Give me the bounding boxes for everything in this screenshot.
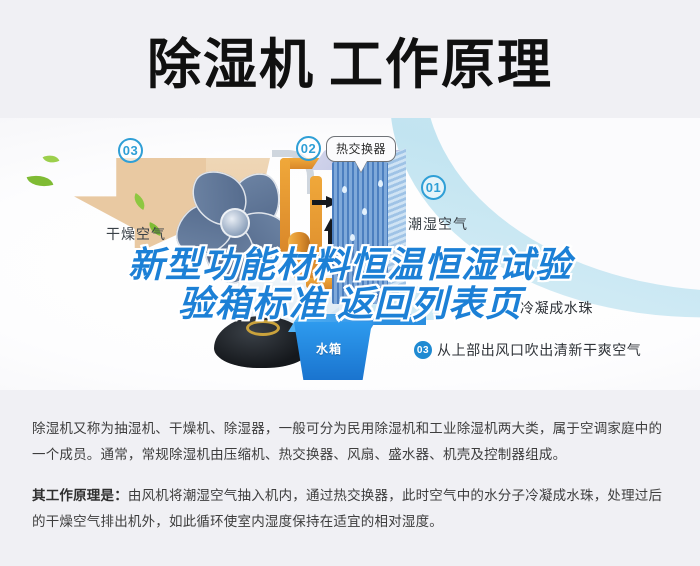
compressor-cylinder (288, 232, 310, 278)
paragraph-principle: 其工作原理是：由风机将潮湿空气抽入机内，通过热交换器，此时空气中的水分子冷凝成水… (32, 483, 672, 536)
paragraph-principle-lead: 其工作原理是： (32, 488, 128, 503)
water-droplet-icon (362, 208, 367, 215)
fan-hub (220, 208, 250, 238)
heat-exchanger (332, 162, 408, 312)
note-condensation: 冷凝成水珠 (520, 298, 593, 318)
heat-exchanger-fins (386, 148, 406, 298)
paragraph-definition: 除湿机又称为抽湿机、干燥机、除湿器，一般可分为民用除湿机和工业除湿机两大类，属于… (32, 416, 672, 469)
article-body: 除湿机又称为抽湿机、干燥机、除湿器，一般可分为民用除湿机和工业除湿机两大类，属于… (32, 416, 672, 549)
note-outlet: 03 从上部出风口吹出清新干爽空气 (414, 340, 641, 360)
water-droplet-icon (350, 234, 355, 241)
copper-pipe (310, 176, 322, 288)
page-title-part2: 工作原理 (329, 35, 553, 95)
step-badge-01: 01 (421, 175, 446, 200)
note-badge-03: 03 (414, 341, 432, 359)
water-tank: 水箱 (286, 314, 396, 390)
water-droplet-icon (378, 180, 383, 187)
page-title: 除湿机工作原理 (147, 38, 553, 92)
water-tank-label: 水箱 (316, 340, 342, 357)
water-droplet-icon (340, 274, 345, 281)
compressor-coil-ring (246, 320, 280, 336)
page-title-part1: 除湿机 (147, 35, 315, 95)
page-header: 除湿机工作原理 (0, 0, 700, 130)
dehumidifier-diagram: 水箱 01 潮湿空气 02 热交换器 03 干燥空气 冷凝成水珠 03 从上部出… (0, 118, 700, 390)
water-droplet-icon (372, 258, 377, 265)
moist-air-label: 潮湿空气 (408, 214, 468, 234)
dry-air-label: 干燥空气 (106, 224, 166, 244)
step-badge-02: 02 (296, 136, 321, 161)
note-outlet-text: 从上部出风口吹出清新干爽空气 (437, 340, 641, 360)
heat-exchanger-callout: 热交换器 (326, 136, 396, 162)
water-droplet-icon (342, 186, 347, 193)
step-badge-03: 03 (118, 138, 143, 163)
note-condensation-text: 冷凝成水珠 (520, 298, 593, 318)
